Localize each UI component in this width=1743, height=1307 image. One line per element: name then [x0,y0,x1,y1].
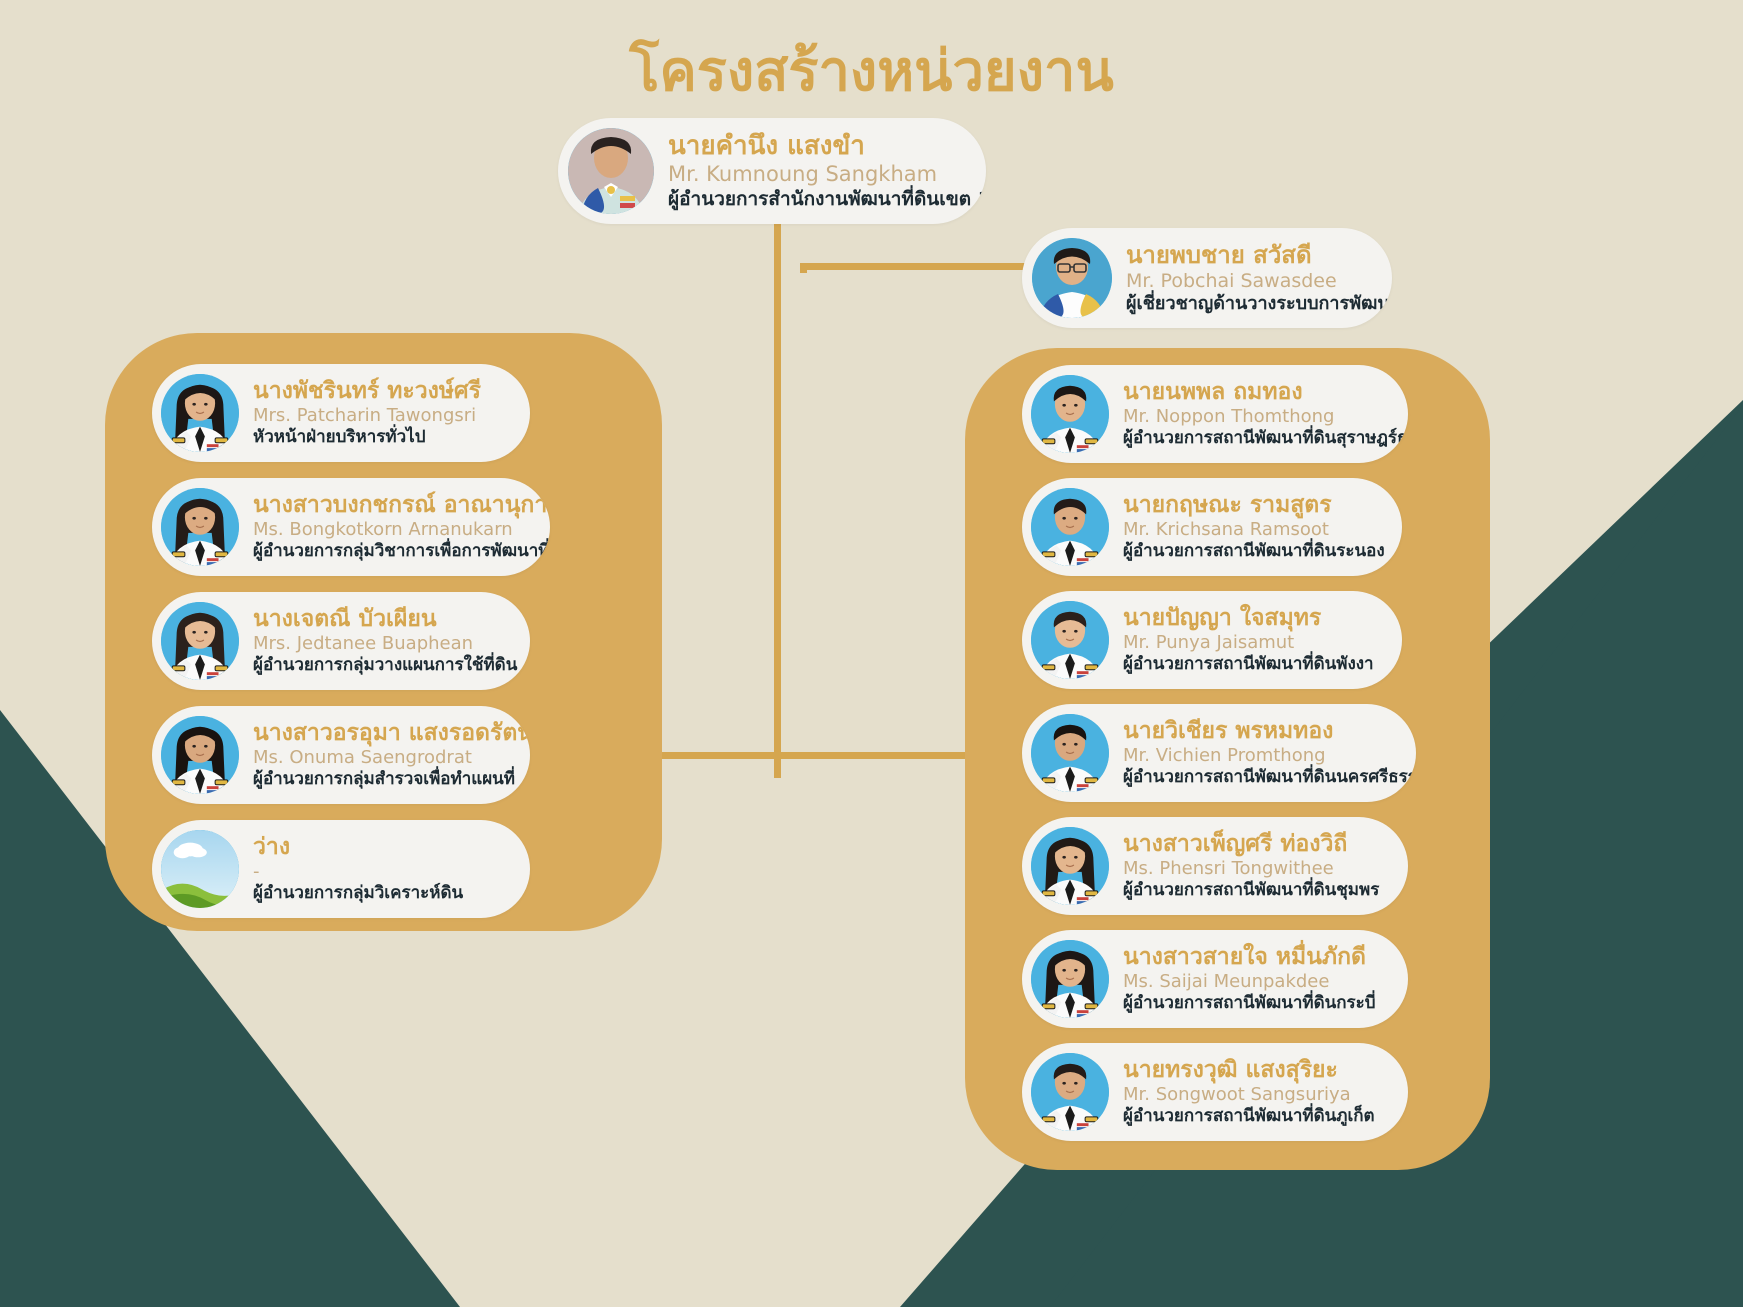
avatar-portrait [161,488,239,566]
avatar-portrait [1031,375,1109,453]
avatar-portrait [161,374,239,452]
person-name-th: นายคำนึง แสงขำ [668,132,970,161]
person-name-en: Mrs. Jedtanee Buaphean [253,634,514,654]
person-name-en: Ms. Saijai Meunpakdee [1123,972,1376,992]
card-text: นายทรงวุฒิ แสงสุริยะMr. Songwoot Sangsur… [1109,1058,1391,1127]
person-position: ผู้อำนวยการกลุ่มสำรวจเพื่อทำแผนที่ [253,770,514,789]
card-right-4[interactable]: นางสาวเพ็ญศรี ท่องวิถีMs. Phensri Tongwi… [1022,817,1408,915]
person-position: ผู้เชี่ยวชาญด้านวางระบบการพัฒนาที่ดิน [1126,294,1376,314]
person-position: ผู้อำนวยการกลุ่มวิเคราะห์ดิน [253,884,463,903]
card-right-6[interactable]: นายทรงวุฒิ แสงสุริยะMr. Songwoot Sangsur… [1022,1043,1408,1141]
card-text: นายคำนึง แสงขำ Mr. Kumnoung Sangkham ผู้… [654,132,986,210]
connector-elbow-specialist [800,263,807,273]
person-name-th: นายทรงวุฒิ แสงสุริยะ [1123,1058,1375,1084]
person-position: ผู้อำนวยการสถานีพัฒนาที่ดินชุมพร [1123,881,1379,900]
card-specialist[interactable]: นายพบชาย สวัสดี Mr. Pobchai Sawasdee ผู้… [1022,228,1392,328]
person-name-th: นายพบชาย สวัสดี [1126,242,1376,269]
person-position: ผู้อำนวยการสถานีพัฒนาที่ดินกระบี่ [1123,994,1376,1013]
card-right-3[interactable]: นายวิเชียร พรหมทองMr. Vichien Promthongผ… [1022,704,1416,802]
person-name-en: Mr. Punya Jaisamut [1123,633,1374,653]
person-name-th: นางสาวอรอุมา แสงรอดรัตน์ [253,721,514,747]
person-position: หัวหน้าฝ่ายบริหารทั่วไป [253,428,481,447]
card-right-1[interactable]: นายกฤษณะ รามสูตรMr. Krichsana Ramsootผู้… [1022,478,1402,576]
person-name-en: Mr. Krichsana Ramsoot [1123,520,1385,540]
card-text: นายกฤษณะ รามสูตรMr. Krichsana Ramsootผู้… [1109,493,1401,562]
page-title: โครงสร้างหน่วยงาน [0,26,1743,115]
card-left-3[interactable]: นางสาวอรอุมา แสงรอดรัตน์Ms. Onuma Saengr… [152,706,530,804]
person-name-en: Ms. Bongkotkorn Arnanukarn [253,520,534,540]
person-position: ผู้อำนวยการสถานีพัฒนาที่ดินนครศรีธรรมราช [1123,768,1400,787]
person-name-en: Mr. Noppon Thomthong [1123,407,1392,427]
person-name-th: นางพัชรินทร์ ทะวงษ์ศรี [253,379,481,405]
person-name-en: Ms. Onuma Saengrodrat [253,748,514,768]
card-director[interactable]: นายคำนึง แสงขำ Mr. Kumnoung Sangkham ผู้… [558,118,986,224]
card-text: นายพบชาย สวัสดี Mr. Pobchai Sawasdee ผู้… [1112,242,1392,314]
avatar-portrait [161,716,239,794]
avatar-landscape-placeholder [161,830,239,908]
avatar-portrait [568,128,654,214]
avatar-portrait [161,602,239,680]
avatar-portrait [1031,488,1109,566]
card-text: นางเจตณี บัวเผียนMrs. Jedtanee Buapheanผ… [239,607,530,676]
card-text: นางพัชรินทร์ ทะวงษ์ศรีMrs. Patcharin Taw… [239,379,497,448]
person-name-en: Mr. Songwoot Sangsuriya [1123,1085,1375,1105]
person-name-th: นายวิเชียร พรหมทอง [1123,719,1400,745]
avatar-portrait [1031,940,1109,1018]
person-name-en: Mr. Pobchai Sawasdee [1126,271,1376,292]
card-right-5[interactable]: นางสาวสายใจ หมื่นภักดีMs. Saijai Meunpak… [1022,930,1408,1028]
person-name-th: นางสาวเพ็ญศรี ท่องวิถี [1123,832,1379,858]
card-text: นางสาวสายใจ หมื่นภักดีMs. Saijai Meunpak… [1109,945,1392,1014]
card-text: นางสาวเพ็ญศรี ท่องวิถีMs. Phensri Tongwi… [1109,832,1395,901]
person-name-th: ว่าง [253,835,463,861]
card-left-2[interactable]: นางเจตณี บัวเผียนMrs. Jedtanee Buapheanผ… [152,592,530,690]
person-name-th: นางสาวบงกชกรณ์ อาณานุการ [253,493,534,519]
avatar-portrait [1031,1053,1109,1131]
card-text: นายวิเชียร พรหมทองMr. Vichien Promthongผ… [1109,719,1416,788]
connector-to-specialist [800,263,1035,270]
person-position: ผู้อำนวยการสถานีพัฒนาที่ดินพังงา [1123,655,1374,674]
person-position: ผู้อำนวยการสถานีพัฒนาที่ดินภูเก็ต [1123,1107,1375,1126]
person-position: ผู้อำนวยการสถานีพัฒนาที่ดินสุราษฎร์ธานี [1123,429,1392,448]
person-position: ผู้อำนวยการสถานีพัฒนาที่ดินระนอง [1123,542,1385,561]
card-left-4[interactable]: ว่าง-ผู้อำนวยการกลุ่มวิเคราะห์ดิน [152,820,530,918]
card-left-1[interactable]: นางสาวบงกชกรณ์ อาณานุการMs. Bongkotkorn … [152,478,550,576]
avatar-portrait [1031,827,1109,905]
person-name-th: นางสาวสายใจ หมื่นภักดี [1123,945,1376,971]
avatar-portrait [1032,238,1112,318]
card-right-0[interactable]: นายนพพล ถมทองMr. Noppon Thomthongผู้อำนว… [1022,365,1408,463]
connector-vertical-main [774,218,781,778]
person-name-th: นายปัญญา ใจสมุทร [1123,606,1374,632]
person-name-en: - [253,862,463,882]
person-name-en: Mr. Kumnoung Sangkham [668,163,970,187]
person-name-th: นายกฤษณะ รามสูตร [1123,493,1385,519]
person-position: ผู้อำนวยการกลุ่มวางแผนการใช้ที่ดิน [253,656,514,675]
person-name-th: นายนพพล ถมทอง [1123,380,1392,406]
card-text: นางสาวบงกชกรณ์ อาณานุการMs. Bongkotkorn … [239,493,550,562]
person-name-en: Ms. Phensri Tongwithee [1123,859,1379,879]
avatar-portrait [1031,714,1109,792]
person-name-en: Mrs. Patcharin Tawongsri [253,406,481,426]
card-text: นายปัญญา ใจสมุทรMr. Punya Jaisamutผู้อำน… [1109,606,1390,675]
card-text: นายนพพล ถมทองMr. Noppon Thomthongผู้อำนว… [1109,380,1408,449]
card-text: ว่าง-ผู้อำนวยการกลุ่มวิเคราะห์ดิน [239,835,479,904]
person-position: ผู้อำนวยการสำนักงานพัฒนาที่ดินเขต 11 [668,189,970,210]
avatar-portrait [1031,601,1109,679]
card-text: นางสาวอรอุมา แสงรอดรัตน์Ms. Onuma Saengr… [239,721,530,790]
card-right-2[interactable]: นายปัญญา ใจสมุทรMr. Punya Jaisamutผู้อำน… [1022,591,1402,689]
card-left-0[interactable]: นางพัชรินทร์ ทะวงษ์ศรีMrs. Patcharin Taw… [152,364,530,462]
person-position: ผู้อำนวยการกลุ่มวิชาการเพื่อการพัฒนาที่ด… [253,542,534,561]
person-name-en: Mr. Vichien Promthong [1123,746,1400,766]
person-name-th: นางเจตณี บัวเผียน [253,607,514,633]
